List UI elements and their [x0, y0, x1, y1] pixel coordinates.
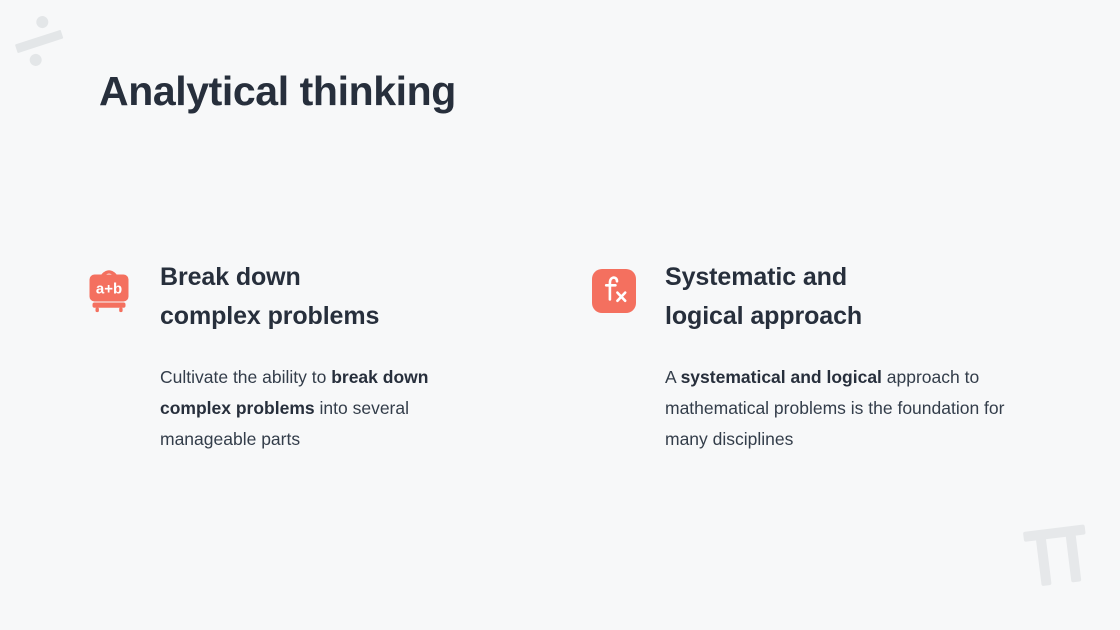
pi-symbol-icon [1018, 518, 1096, 592]
description-emphasis: systematical and logical [681, 367, 882, 387]
briefcase-ab-icon: a+b [86, 268, 132, 314]
feature-body: Break down complex problems Cultivate th… [160, 258, 507, 455]
feature-columns: a+b Break down complex problems Cultivat… [0, 258, 1120, 455]
division-dot-top [35, 14, 50, 29]
slide-canvas: Analytical thinking a+b [0, 0, 1120, 630]
function-fx-icon [591, 268, 637, 314]
division-sign-icon [6, 9, 73, 73]
division-bar [15, 30, 63, 53]
feature-column-systematic: Systematic and logical approach A system… [507, 258, 1014, 455]
svg-text:a+b: a+b [96, 281, 122, 298]
feature-column-break-down: a+b Break down complex problems Cultivat… [0, 258, 507, 455]
page-title: Analytical thinking [99, 68, 456, 115]
division-dot-bottom [28, 52, 43, 67]
feature-title: Systematic and logical approach [665, 258, 1014, 336]
description-lead: Cultivate the ability to [160, 367, 331, 387]
feature-description: A systematical and logical approach to m… [665, 362, 1005, 455]
feature-description: Cultivate the ability to break down comp… [160, 362, 500, 455]
description-lead: A [665, 367, 681, 387]
feature-body: Systematic and logical approach A system… [665, 258, 1014, 455]
feature-title: Break down complex problems [160, 258, 507, 336]
